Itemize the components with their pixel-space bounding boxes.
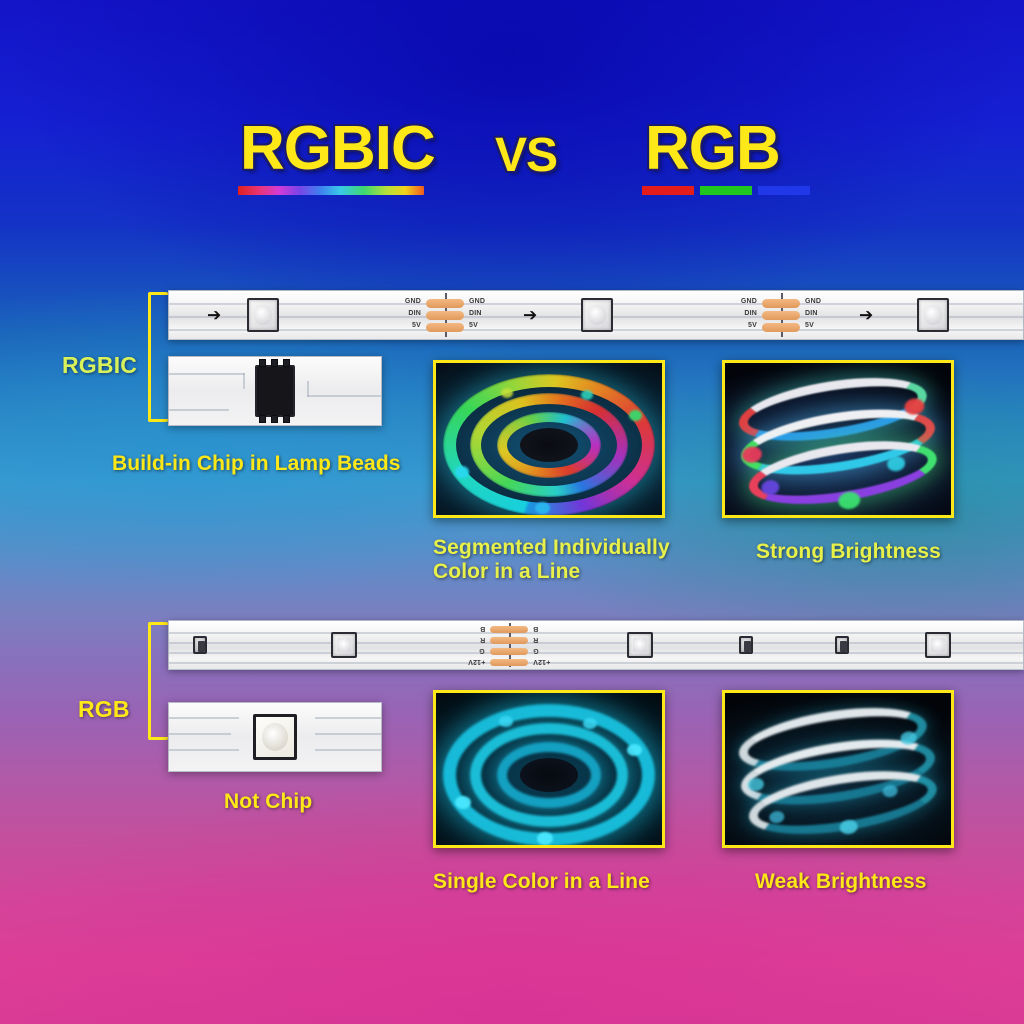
led-reel [441, 700, 657, 848]
direction-arrow-icon: ➔ [859, 307, 873, 324]
rainbow-underline [238, 186, 424, 195]
solder-pad [490, 626, 528, 633]
pad-label-right: GND [805, 298, 821, 305]
underline-segment-blue [758, 186, 810, 195]
pad-label-left: 5V [748, 322, 757, 329]
pad-label-left: B [480, 625, 485, 632]
lamp-bead-plain [925, 632, 951, 658]
pcb-trace [169, 409, 229, 411]
pcb-trace [315, 717, 382, 719]
solder-pad-group: GND GND DIN DIN 5V 5V [721, 291, 841, 339]
caption-strong-brightness: Strong Brightness [756, 540, 941, 564]
pad-label-right: 5V [805, 322, 814, 329]
side-label-rgbic: RGBIC [62, 352, 137, 379]
pad-label-right: R [533, 636, 538, 643]
underline-segment-green [700, 186, 752, 195]
pcb-trace [169, 717, 239, 719]
pcb-trace [243, 373, 245, 389]
solder-pad [426, 323, 464, 332]
pad-label-left: DIN [744, 310, 757, 317]
lamp-bead-plain [331, 632, 357, 658]
solder-pad [490, 659, 528, 666]
solder-pad-group: GND GND DIN DIN 5V 5V [385, 291, 505, 339]
pcb-trace [169, 373, 245, 375]
photo-scene [725, 363, 951, 515]
caption-line-1: Segmented Individually [433, 536, 670, 559]
solder-pad [490, 648, 528, 655]
photo-segmented-multicolor-reel [433, 360, 665, 518]
caption-not-chip: Not Chip [224, 790, 312, 814]
bracket-rgb [148, 622, 168, 740]
lamp-bead-plain [627, 632, 653, 658]
header: RGBIC VS RGB [0, 112, 1024, 204]
header-vs-label: VS [495, 132, 557, 180]
pcb-trace [315, 749, 382, 751]
pad-label-right: G [533, 647, 539, 654]
pad-label-left: 5V [412, 322, 421, 329]
pcb-trace [169, 662, 1023, 664]
lamp-bead-ic [581, 298, 613, 332]
caption-segmented-individually: Segmented Individually Color in a Line [433, 536, 670, 584]
pcb-trace [169, 749, 239, 751]
closeup-rgb-bead [168, 702, 382, 772]
photo-single-color-reel [433, 690, 665, 848]
caption-single-color: Single Color in a Line [433, 870, 650, 894]
pad-label-left: GND [741, 298, 757, 305]
lamp-bead-ic [247, 298, 279, 332]
pcb-trace [169, 652, 1023, 654]
solder-pad [762, 323, 800, 332]
direction-arrow-icon: ➔ [523, 307, 537, 324]
pad-label-left: DIN [408, 310, 421, 317]
caption-weak-brightness: Weak Brightness [755, 870, 927, 894]
solder-pad [426, 299, 464, 308]
solder-pad [490, 637, 528, 644]
pad-label-right: GND [469, 298, 485, 305]
underline-segment-red [642, 186, 694, 195]
lamp-bead-no-chip-icon [253, 714, 297, 760]
solder-pad [762, 311, 800, 320]
direction-arrow-icon: ➔ [207, 307, 221, 324]
photo-strong-brightness-coil [722, 360, 954, 518]
side-label-rgb: RGB [78, 696, 130, 723]
pad-label-left: +12V [468, 658, 485, 665]
controller-chip-icon [255, 365, 295, 417]
pad-label-left: R [480, 636, 485, 643]
pad-label-right: DIN [805, 310, 818, 317]
pcb-trace [307, 395, 382, 397]
led-strip-rgbic: ➔ GND GND DIN DIN 5V 5V ➔ [168, 290, 1024, 340]
caption-build-in-chip: Build-in Chip in Lamp Beads [112, 452, 401, 476]
pad-label-right: B [533, 625, 538, 632]
pad-label-right: 5V [469, 322, 478, 329]
solder-pad [426, 311, 464, 320]
solder-pad [762, 299, 800, 308]
solder-pad-group: B B R R G G +12V +12V [449, 621, 569, 669]
pcb-trace [169, 642, 1023, 644]
photo-scene [436, 693, 662, 845]
header-title-rgbic: RGBIC [240, 118, 435, 180]
pcb-trace [169, 733, 231, 735]
pcb-trace [307, 381, 309, 397]
pad-label-left: G [479, 647, 485, 654]
pcb-trace [169, 632, 1023, 634]
bracket-rgbic [148, 292, 168, 422]
led-reel [441, 370, 657, 518]
photo-scene [725, 693, 951, 845]
photo-scene [436, 363, 662, 515]
photo-weak-brightness-coil [722, 690, 954, 848]
caption-line-2: Color in a Line [433, 560, 670, 584]
pad-label-right: DIN [469, 310, 482, 317]
infographic-stage: RGBIC VS RGB RGBIC ➔ GND GND DIN DIN [0, 0, 1024, 1024]
lamp-bead-ic [917, 298, 949, 332]
closeup-rgbic-chip [168, 356, 382, 426]
led-strip-rgb: B B R R G G +12V +12V [168, 620, 1024, 670]
lamp-bead-plain-small [739, 636, 753, 654]
header-title-rgb: RGB [645, 118, 780, 180]
lamp-bead-plain-small [835, 636, 849, 654]
pcb-trace [315, 733, 382, 735]
pad-label-left: GND [405, 298, 421, 305]
pad-label-right: +12V [533, 658, 550, 665]
lamp-bead-plain-small [193, 636, 207, 654]
